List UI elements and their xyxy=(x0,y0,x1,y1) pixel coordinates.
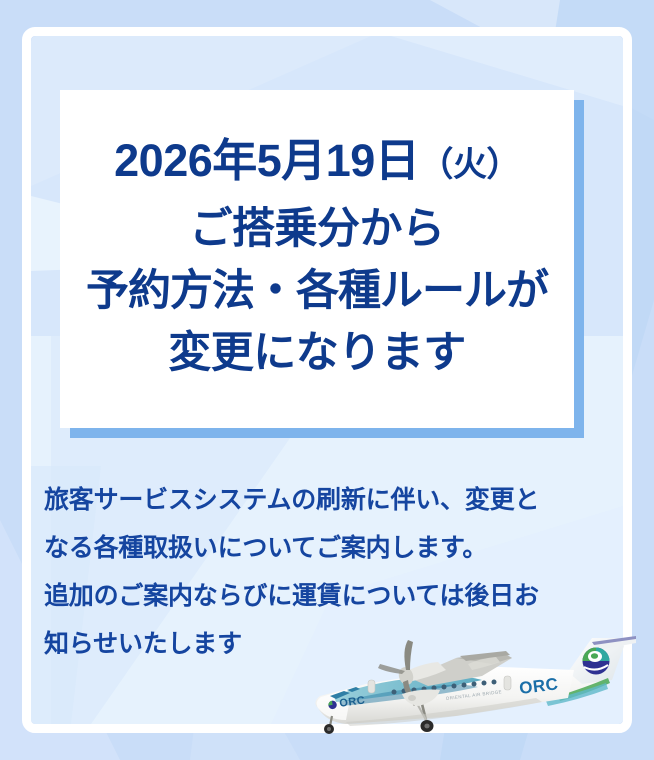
headline-date-day: 19日 xyxy=(326,135,420,186)
body-line-2: なる各種取扱いについてご案内します。 xyxy=(44,524,616,572)
headline-line-2: ご搭乗分から xyxy=(190,198,445,260)
headline-line-4: 変更になります xyxy=(168,322,466,384)
body-line-1: 旅客サービスシステムの刷新に伴い、変更と xyxy=(44,476,616,524)
headline-line-3: 予約方法・各種ルールが xyxy=(86,260,548,322)
headline-card: 2026年5月19日（火） ご搭乗分から 予約方法・各種ルールが 変更になります xyxy=(60,90,574,428)
headline-date-line: 2026年5月19日（火） xyxy=(114,130,520,196)
body-line-3: 追加のご案内ならびに運賃については後日お xyxy=(44,572,616,620)
headline-date-month: 5月 xyxy=(257,135,326,186)
body-paragraph: 旅客サービスシステムの刷新に伴い、変更と なる各種取扱いについてご案内します。 … xyxy=(44,476,616,668)
announcement-banner: 2026年5月19日（火） ご搭乗分から 予約方法・各種ルールが 変更になります… xyxy=(0,0,654,760)
headline-date-weekday: （火） xyxy=(419,146,520,184)
headline-date-year: 2026年 xyxy=(114,135,257,186)
body-line-4: 知らせいたします xyxy=(44,620,616,668)
